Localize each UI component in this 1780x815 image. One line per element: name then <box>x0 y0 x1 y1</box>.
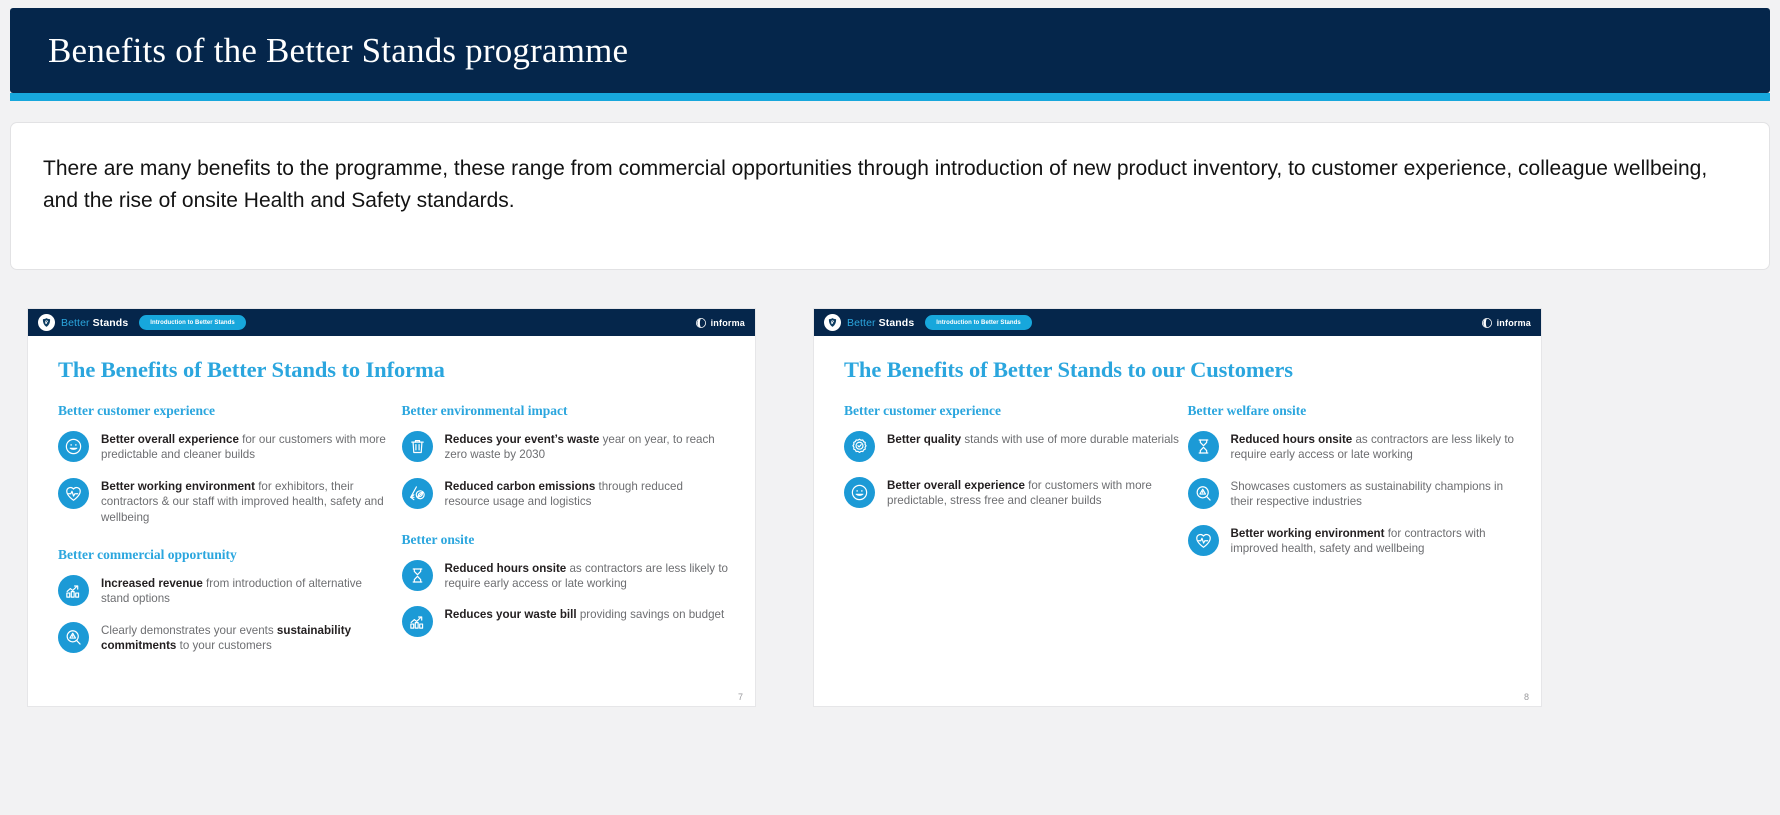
intro-paragraph: There are many benefits to the programme… <box>11 123 1769 217</box>
benefit-item: Reduces your event’s waste year on year,… <box>402 431 730 463</box>
benefit-item: Showcases customers as sustainability ch… <box>1188 478 1516 510</box>
benefit-item: Better working environment for exhibitor… <box>58 478 394 525</box>
section-heading: Better welfare onsite <box>1188 403 1516 419</box>
section-heading: Better commercial opportunity <box>58 547 394 563</box>
slide-column-left: Better customer experienceBetter overall… <box>58 403 394 669</box>
better-stands-logo: Better Stands <box>824 314 914 331</box>
magnifier-alert-icon <box>58 622 89 653</box>
brand-wordmark: Better Stands <box>61 317 128 329</box>
heart-pulse-icon <box>1188 525 1219 556</box>
slide-column-right: Better environmental impactReduces your … <box>394 403 730 669</box>
informa-swirl-icon <box>695 317 707 329</box>
magnifier-alert-icon <box>1188 478 1219 509</box>
slide-page-number: 8 <box>1524 692 1529 702</box>
header-accent-bar <box>10 93 1770 101</box>
informa-logo: informa <box>695 317 745 329</box>
section-heading: Better onsite <box>402 532 730 548</box>
slide-nav-pills: Introduction to Better Stands Benefits t… <box>925 315 1144 330</box>
slide-page-number: 7 <box>738 692 743 702</box>
benefit-item: Reduced carbon emissions through reduced… <box>402 478 730 510</box>
nav-pill-benefits[interactable]: Benefits to Informa and Customers <box>237 315 358 330</box>
benefit-item-text: Reduces your waste bill providing saving… <box>445 606 725 637</box>
slide-column-left: Better customer experienceBetter quality… <box>844 403 1180 571</box>
benefit-item-text: Clearly demonstrates your events sustain… <box>101 622 394 654</box>
benefit-item-text: Increased revenue from introduction of a… <box>101 575 394 607</box>
section-heading: Better customer experience <box>58 403 394 419</box>
slide-nav-pills: Introduction to Better Stands Benefits t… <box>139 315 358 330</box>
benefit-item: Reduced hours onsite as contractors are … <box>1188 431 1516 463</box>
slide-title: The Benefits of Better Stands to Informa <box>58 357 729 383</box>
benefit-item-text: Reduces your event’s waste year on year,… <box>445 431 730 463</box>
benefit-item: Better overall experience for customers … <box>844 477 1180 509</box>
slide-columns: Better customer experienceBetter overall… <box>58 403 729 669</box>
section-heading: Better customer experience <box>844 403 1180 419</box>
benefit-item-text: Better working environment for contracto… <box>1231 525 1516 557</box>
benefit-item-text: Showcases customers as sustainability ch… <box>1231 478 1516 510</box>
benefit-item-text: Better overall experience for customers … <box>887 477 1180 509</box>
slide-top-bar: Better Stands Introduction to Better Sta… <box>28 309 755 336</box>
benefit-item: Better overall experience for our custom… <box>58 431 394 463</box>
slide-columns: Better customer experienceBetter quality… <box>844 403 1515 571</box>
hourglass-icon <box>402 560 433 591</box>
benefit-item-text: Better overall experience for our custom… <box>101 431 394 463</box>
slide-body: The Benefits of Better Stands to Informa… <box>28 336 755 707</box>
slide-thumbnail-informa[interactable]: Better Stands Introduction to Better Sta… <box>27 308 756 707</box>
benefit-item-text: Better working environment for exhibitor… <box>101 478 394 525</box>
benefit-item-text: Reduced hours onsite as contractors are … <box>445 560 730 592</box>
benefit-item: Better quality stands with use of more d… <box>844 431 1180 462</box>
benefit-item-text: Better quality stands with use of more d… <box>887 431 1179 462</box>
slide-body: The Benefits of Better Stands to our Cus… <box>814 336 1541 707</box>
benefit-item-text: Reduced hours onsite as contractors are … <box>1231 431 1516 463</box>
smiley-face-icon <box>58 431 89 462</box>
recycle-leaf-icon <box>402 478 433 509</box>
nav-pill-benefits[interactable]: Benefits to Informa and Customers <box>1023 315 1144 330</box>
page-title: Benefits of the Better Stands programme <box>10 31 628 71</box>
benefit-item: Clearly demonstrates your events sustain… <box>58 622 394 654</box>
heart-pulse-icon <box>58 478 89 509</box>
informa-swirl-icon <box>1481 317 1493 329</box>
slide-top-bar: Better Stands Introduction to Better Sta… <box>814 309 1541 336</box>
benefit-item: Better working environment for contracto… <box>1188 525 1516 557</box>
benefit-item-text: Reduced carbon emissions through reduced… <box>445 478 730 510</box>
brand-wordmark: Better Stands <box>847 317 914 329</box>
smiley-face-icon <box>844 477 875 508</box>
slide-thumbnail-customers[interactable]: Better Stands Introduction to Better Sta… <box>813 308 1542 707</box>
hourglass-icon <box>1188 431 1219 462</box>
intro-card: There are many benefits to the programme… <box>10 122 1770 270</box>
revenue-growth-icon <box>402 606 433 637</box>
revenue-growth-icon <box>58 575 89 606</box>
shield-leaf-icon <box>38 314 55 331</box>
benefit-item: Reduces your waste bill providing saving… <box>402 606 730 637</box>
benefit-item: Increased revenue from introduction of a… <box>58 575 394 607</box>
better-stands-logo: Better Stands <box>38 314 128 331</box>
benefit-item: Reduced hours onsite as contractors are … <box>402 560 730 592</box>
shield-leaf-icon <box>824 314 841 331</box>
quality-rosette-icon <box>844 431 875 462</box>
slide-column-right: Better welfare onsiteReduced hours onsit… <box>1180 403 1516 571</box>
page-header: Benefits of the Better Stands programme <box>10 8 1770 93</box>
slide-title: The Benefits of Better Stands to our Cus… <box>844 357 1515 383</box>
trash-bin-icon <box>402 431 433 462</box>
section-heading: Better environmental impact <box>402 403 730 419</box>
nav-pill-introduction[interactable]: Introduction to Better Stands <box>925 315 1031 330</box>
nav-pill-introduction[interactable]: Introduction to Better Stands <box>139 315 245 330</box>
informa-logo: informa <box>1481 317 1531 329</box>
